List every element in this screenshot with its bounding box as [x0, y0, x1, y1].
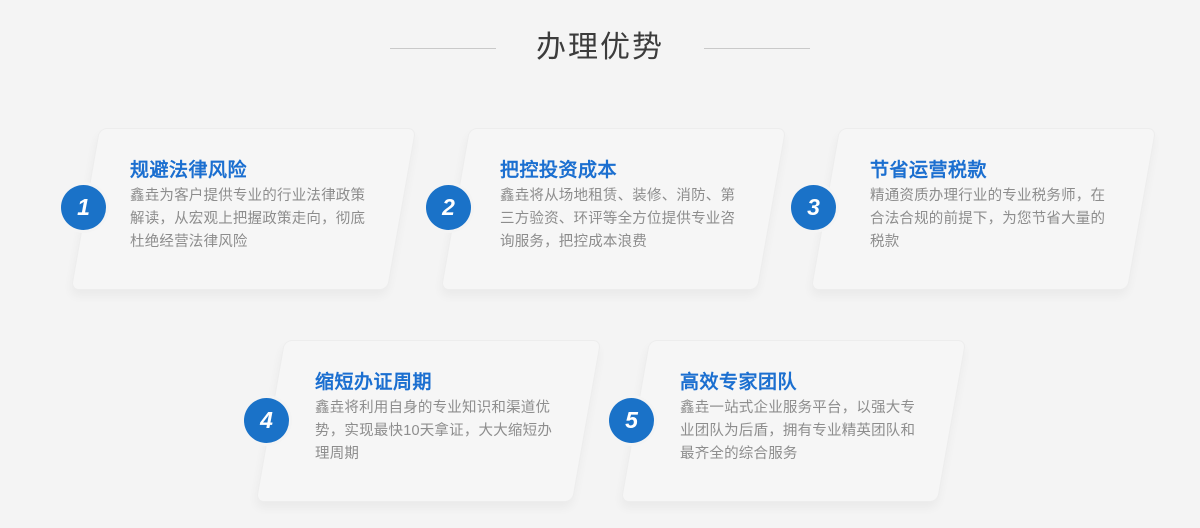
advantage-card-5-description: 鑫垚一站式企业服务平台，以强大专业团队为后盾，拥有专业精英团队和最齐全的综合服务: [680, 397, 918, 466]
advantage-card-3-number-badge: 3: [791, 185, 836, 230]
advantage-card-4-number-badge: 4: [244, 398, 289, 443]
advantage-card-3-description: 精通资质办理行业的专业税务师，在合法合规的前提下，为您节省大量的税款: [870, 185, 1108, 254]
advantage-card-2-number-badge: 2: [426, 185, 471, 230]
advantage-card-4-description: 鑫垚将利用自身的专业知识和渠道优势，实现最快10天拿证，大大缩短办理周期: [315, 397, 553, 466]
advantage-card-1-number-badge: 1: [61, 185, 106, 230]
advantage-card-5-title: 高效专家团队: [680, 367, 797, 394]
advantage-card-1-title: 规避法律风险: [130, 155, 247, 182]
advantage-card-2-description: 鑫垚将从场地租赁、装修、消防、第三方验资、环评等全方位提供专业咨询服务，把控成本…: [500, 185, 738, 254]
advantage-card-5[interactable]: 高效专家团队 鑫垚一站式企业服务平台，以强大专业团队为后盾，拥有专业精英团队和最…: [621, 340, 967, 502]
advantage-card-4[interactable]: 缩短办证周期 鑫垚将利用自身的专业知识和渠道优势，实现最快10天拿证，大大缩短办…: [256, 340, 602, 502]
advantage-card-4-title: 缩短办证周期: [315, 367, 432, 394]
advantage-card-1[interactable]: 规避法律风险 鑫垚为客户提供专业的行业法律政策解读，从宏观上把握政策走向，彻底杜…: [71, 128, 417, 290]
advantage-card-2[interactable]: 把控投资成本 鑫垚将从场地租赁、装修、消防、第三方验资、环评等全方位提供专业咨询…: [441, 128, 787, 290]
advantage-card-3-title: 节省运营税款: [870, 155, 987, 182]
advantage-card-3[interactable]: 节省运营税款 精通资质办理行业的专业税务师，在合法合规的前提下，为您节省大量的税…: [811, 128, 1157, 290]
advantage-card-grid: 规避法律风险 鑫垚为客户提供专业的行业法律政策解读，从宏观上把握政策走向，彻底杜…: [0, 0, 1200, 528]
advantage-card-2-title: 把控投资成本: [500, 155, 617, 182]
advantage-card-5-number-badge: 5: [609, 398, 654, 443]
advantage-card-1-description: 鑫垚为客户提供专业的行业法律政策解读，从宏观上把握政策走向，彻底杜绝经营法律风险: [130, 185, 368, 254]
